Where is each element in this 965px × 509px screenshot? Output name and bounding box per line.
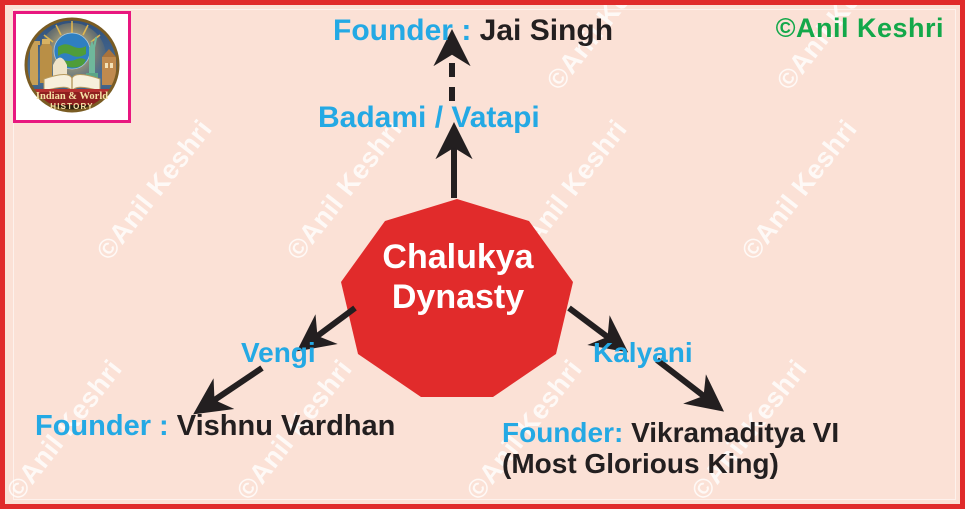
watermark-text: ©Anil Keshri bbox=[736, 114, 864, 266]
central-label-line2: Dynasty bbox=[345, 277, 571, 317]
founder-name-jai-singh: Jai Singh bbox=[480, 14, 613, 47]
founder-label-prefix: Founder : bbox=[333, 14, 480, 47]
capital-kalyani: Kalyani bbox=[593, 337, 693, 369]
arrow-center-to-kalyani bbox=[569, 308, 609, 338]
founder-name-vishnu-vardhan: Vishnu Vardhan bbox=[177, 410, 396, 442]
founder-label-prefix: Founder : bbox=[35, 410, 177, 442]
founder-label-prefix: Founder: bbox=[502, 417, 631, 448]
capital-vengi: Vengi bbox=[241, 337, 316, 369]
capital-badami-vatapi: Badami / Vatapi bbox=[318, 101, 540, 135]
central-node-label: Chalukya Dynasty bbox=[345, 237, 571, 317]
central-label-line1: Chalukya bbox=[345, 237, 571, 277]
watermark-text: ©Anil Keshri bbox=[91, 114, 219, 266]
arrow-vengi-to-founder bbox=[213, 368, 262, 401]
founder-note-kalyani: (Most Glorious King) bbox=[502, 448, 779, 479]
copyright-label: ©Anil Keshri bbox=[776, 13, 944, 44]
logo-line2: HISTORY bbox=[50, 102, 94, 111]
founder-badami: Founder : Jai Singh bbox=[333, 14, 613, 48]
logo-line1: Indian & World bbox=[36, 91, 108, 102]
founder-vengi: Founder : Vishnu Vardhan bbox=[35, 410, 395, 443]
founder-kalyani: Founder: Vikramaditya VI (Most Glorious … bbox=[502, 417, 932, 480]
history-emblem-icon: Indian & World HISTORY bbox=[20, 17, 124, 117]
founder-name-vikramaditya-vi: Vikramaditya VI bbox=[631, 417, 839, 448]
logo-badge[interactable]: Indian & World HISTORY bbox=[13, 11, 131, 123]
diagram-canvas: ©Anil Keshri ©Anil Keshri ©Anil Keshri ©… bbox=[0, 0, 965, 509]
